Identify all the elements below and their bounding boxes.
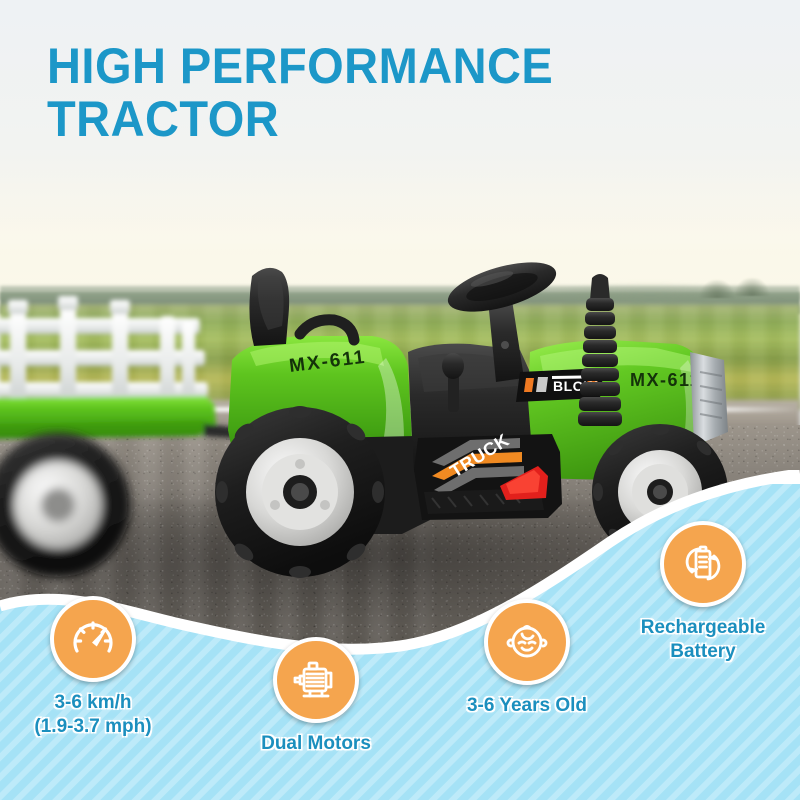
speedometer-icon (50, 596, 136, 682)
feature-label: Dual Motors (261, 732, 371, 756)
baby-face-icon (484, 599, 570, 685)
feature-label: 3-6 Years Old (467, 694, 587, 718)
hood-model-decal: MX-611 (630, 370, 701, 390)
exhaust-stack (578, 274, 622, 426)
feature-battery[interactable]: Rechargeable Battery (608, 521, 798, 664)
electric-motor-icon (273, 637, 359, 723)
feature-motors[interactable]: Dual Motors (221, 637, 411, 756)
trailer (0, 296, 258, 440)
feature-label: 3-6 km/h (1.9-3.7 mph) (34, 691, 151, 739)
feature-label: Rechargeable Battery (641, 616, 766, 664)
front-grille (690, 352, 728, 446)
feature-speed[interactable]: 3-6 km/h (1.9-3.7 mph) (0, 596, 188, 739)
product-poster: HIGH PERFORMANCE TRACTOR (0, 0, 800, 800)
feature-age[interactable]: 3-6 Years Old (432, 599, 622, 718)
rechargeable-battery-icon (660, 521, 746, 607)
